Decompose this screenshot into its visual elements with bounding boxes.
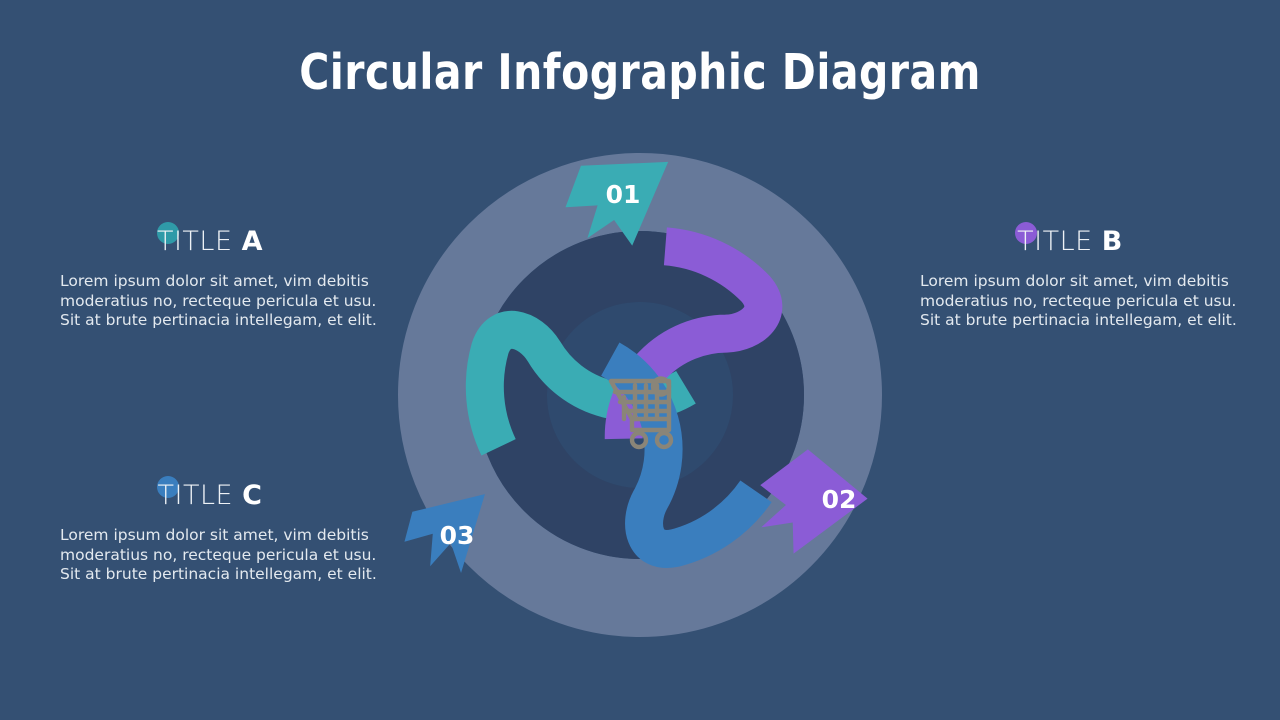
heading-row-title-c: TITLE C	[60, 476, 360, 520]
body-line: Sit at brute pertinacia intellegam, et e…	[920, 311, 1220, 331]
step-number-02: 02	[822, 485, 857, 514]
info-block-title-c: TITLE C Lorem ipsum dolor sit amet, vim …	[60, 476, 360, 585]
heading-title-a: TITLE A	[60, 222, 360, 262]
body-line: moderatius no, recteque pericula et usu.	[60, 546, 360, 566]
body-text-title-c: Lorem ipsum dolor sit amet, vim debitis …	[60, 526, 360, 585]
body-line: moderatius no, recteque pericula et usu.	[60, 292, 360, 312]
body-line: moderatius no, recteque pericula et usu.	[920, 292, 1220, 312]
heading-title-c-letter: C	[242, 480, 262, 511]
body-line: Lorem ipsum dolor sit amet, vim debitis	[920, 272, 1220, 292]
body-text-title-b: Lorem ipsum dolor sit amet, vim debitis …	[920, 272, 1220, 331]
step-number-01: 01	[606, 180, 641, 209]
info-block-title-b: TITLE B Lorem ipsum dolor sit amet, vim …	[920, 222, 1220, 331]
body-line: Sit at brute pertinacia intellegam, et e…	[60, 311, 360, 331]
heading-row-title-a: TITLE A	[60, 222, 360, 266]
info-block-title-a: TITLE A Lorem ipsum dolor sit amet, vim …	[60, 222, 360, 331]
step-number-03: 03	[440, 521, 475, 550]
body-line: Lorem ipsum dolor sit amet, vim debitis	[60, 526, 360, 546]
body-line: Sit at brute pertinacia intellegam, et e…	[60, 565, 360, 585]
heading-title-c: TITLE C	[60, 476, 360, 516]
body-line: Lorem ipsum dolor sit amet, vim debitis	[60, 272, 360, 292]
body-text-title-a: Lorem ipsum dolor sit amet, vim debitis …	[60, 272, 360, 331]
circular-diagram: 01 02 03	[395, 150, 885, 640]
heading-title-a-prefix: TITLE	[157, 226, 242, 257]
page-title: Circular Infographic Diagram	[45, 44, 1235, 101]
heading-title-b: TITLE B	[920, 222, 1220, 262]
heading-title-c-prefix: TITLE	[158, 480, 243, 511]
heading-title-a-letter: A	[242, 226, 263, 257]
heading-title-b-letter: B	[1102, 226, 1123, 257]
heading-title-b-prefix: TITLE	[1017, 226, 1102, 257]
heading-row-title-b: TITLE B	[920, 222, 1220, 266]
